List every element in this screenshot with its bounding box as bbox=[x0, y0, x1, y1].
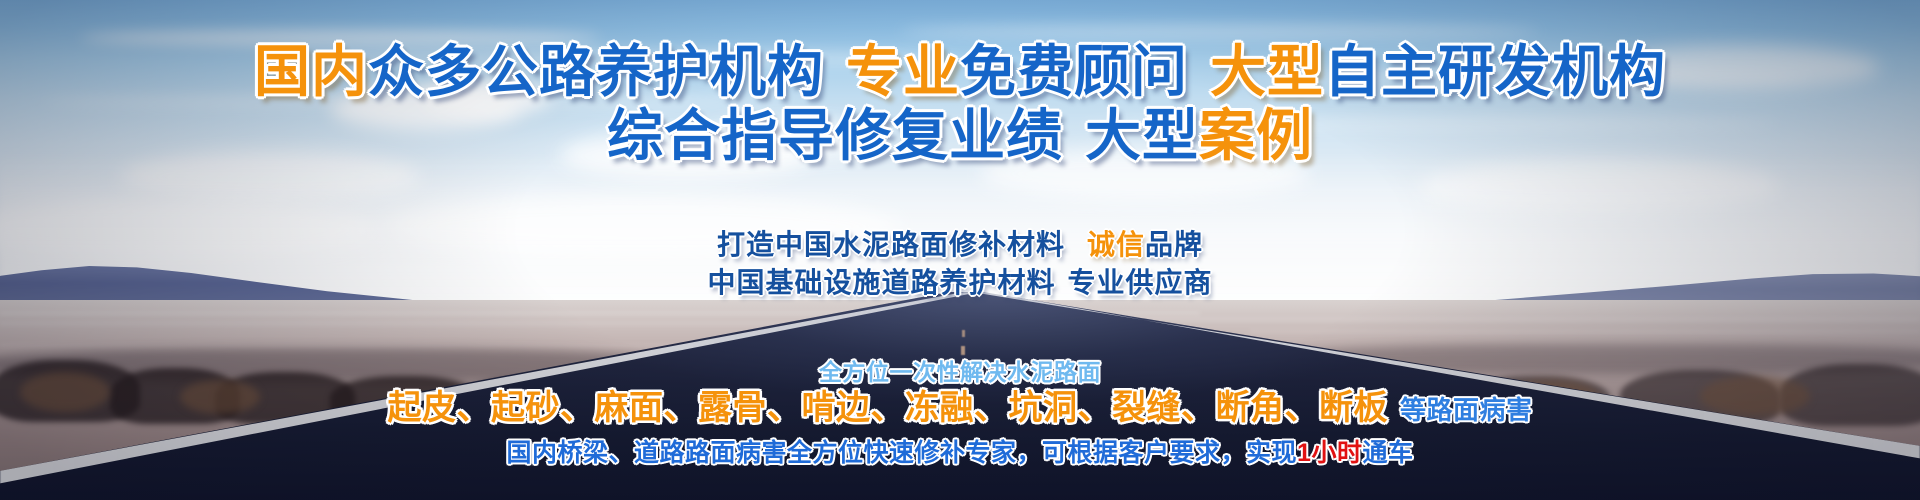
damage-list-suffix: 等路面病害 bbox=[1400, 395, 1533, 425]
headline-line-2: 综合指导修复业绩大型案例 bbox=[0, 106, 1920, 166]
headline-1-seg-3: 专业 bbox=[846, 40, 960, 103]
headline-1-seg-6: 自主研发机构 bbox=[1324, 40, 1666, 103]
headline-1-seg-2: 众多公路养护机构 bbox=[368, 40, 824, 103]
footer-claim-after: 通车 bbox=[1362, 439, 1413, 467]
headline-2-seg-3: 案例 bbox=[1199, 104, 1313, 167]
subtitle-1-seg-2: 诚信 bbox=[1087, 229, 1145, 260]
subtitle-2-seg-2: 专业供应商 bbox=[1068, 267, 1213, 298]
subtitle-1-seg-3: 品牌 bbox=[1145, 229, 1203, 260]
subtitle-1-seg-1: 打造中国水泥路面修补材料 bbox=[717, 229, 1065, 260]
damage-list-text: 起皮、起砂、麻面、露骨、啃边、冻融、坑洞、裂缝、断角、断板 bbox=[387, 389, 1388, 427]
headline-1-seg-1: 国内 bbox=[254, 40, 368, 103]
subtitle-line-2: 中国基础设施道路养护材料专业供应商 bbox=[0, 266, 1920, 300]
bottom-tagline-text: 全方位一次性解决水泥路面 bbox=[819, 359, 1101, 385]
bottom-tagline: 全方位一次性解决水泥路面 bbox=[0, 358, 1920, 386]
promo-banner: 国内众多公路养护机构专业免费顾问大型自主研发机构 综合指导修复业绩大型案例 打造… bbox=[0, 0, 1920, 500]
subtitle-line-1: 打造中国水泥路面修补材料诚信品牌 bbox=[0, 228, 1920, 262]
damage-type-list: 起皮、起砂、麻面、露骨、啃边、冻融、坑洞、裂缝、断角、断板等路面病害 bbox=[0, 388, 1920, 430]
subtitle-2-seg-1: 中国基础设施道路养护材料 bbox=[707, 267, 1055, 298]
headline-1-seg-5: 大型 bbox=[1210, 40, 1324, 103]
headline-2-seg-2: 大型 bbox=[1085, 104, 1199, 167]
footer-claim-line: 国内桥梁、道路路面病害全方位快速修补专家，可根据客户要求，实现1小时通车 bbox=[0, 438, 1920, 468]
footer-claim-before: 国内桥梁、道路路面病害全方位快速修补专家，可根据客户要求，实现 bbox=[507, 439, 1298, 467]
headline-2-seg-1: 综合指导修复业绩 bbox=[607, 104, 1063, 167]
headline-1-seg-4: 免费顾问 bbox=[960, 40, 1188, 103]
banner-content: 国内众多公路养护机构专业免费顾问大型自主研发机构 综合指导修复业绩大型案例 打造… bbox=[0, 0, 1920, 500]
headline-line-1: 国内众多公路养护机构专业免费顾问大型自主研发机构 bbox=[0, 42, 1920, 102]
footer-claim-highlight: 1小时 bbox=[1297, 439, 1362, 467]
